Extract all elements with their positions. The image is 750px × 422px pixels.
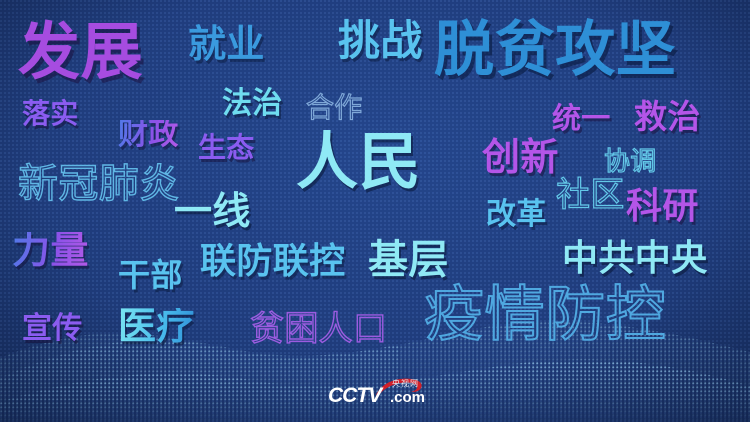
cctv-domain-text: .com [390,389,425,406]
word-cloud-term: 人民 [296,132,421,194]
cctv-watermark-logo: CCTV 央视网 .com [328,378,434,408]
word-cloud-term: 宣传 [22,314,83,344]
word-cloud-term: 脱贫攻坚 [434,20,676,80]
word-cloud-term: 干部 [118,259,183,291]
word-cloud-term: 疫情防控 [424,285,666,345]
word-cloud-term: 统一 [552,105,611,134]
word-cloud-term: 社区 [556,178,625,212]
word-cloud-term: 贫困人口 [250,312,387,346]
word-cloud-term: 财政 [118,120,179,150]
word-cloud-term: 科研 [626,188,699,224]
word-cloud-term: 救治 [634,100,701,133]
word-cloud-canvas: 发展就业挑战脱贫攻坚落实法治合作统一救治财政生态人民创新协调新冠肺炎一线社区科研… [0,0,750,422]
word-cloud-term: 法治 [222,89,283,119]
word-cloud-term: 生态 [198,134,255,162]
word-cloud-term: 就业 [188,26,265,64]
word-list: 发展就业挑战脱贫攻坚落实法治合作统一救治财政生态人民创新协调新冠肺炎一线社区科研… [0,0,750,422]
word-cloud-term: 合作 [306,94,363,122]
word-cloud-term: 基层 [368,240,449,280]
word-cloud-term: 协调 [604,148,657,174]
cctv-chinese-name: 央视网 [392,378,419,389]
word-cloud-term: 一线 [174,193,251,231]
word-cloud-term: 新冠肺炎 [18,164,180,204]
word-cloud-term: 联防联控 [200,243,345,279]
word-cloud-term: 挑战 [338,20,423,62]
word-cloud-term: 医疗 [118,308,195,346]
word-cloud-term: 发展 [18,22,143,84]
word-cloud-term: 中共中央 [562,240,707,276]
word-cloud-term: 创新 [482,139,559,177]
word-cloud-term: 改革 [486,200,547,230]
word-cloud-term: 落实 [22,100,79,128]
word-cloud-term: 力量 [12,232,89,270]
cctv-wordmark: CCTV [328,384,381,408]
